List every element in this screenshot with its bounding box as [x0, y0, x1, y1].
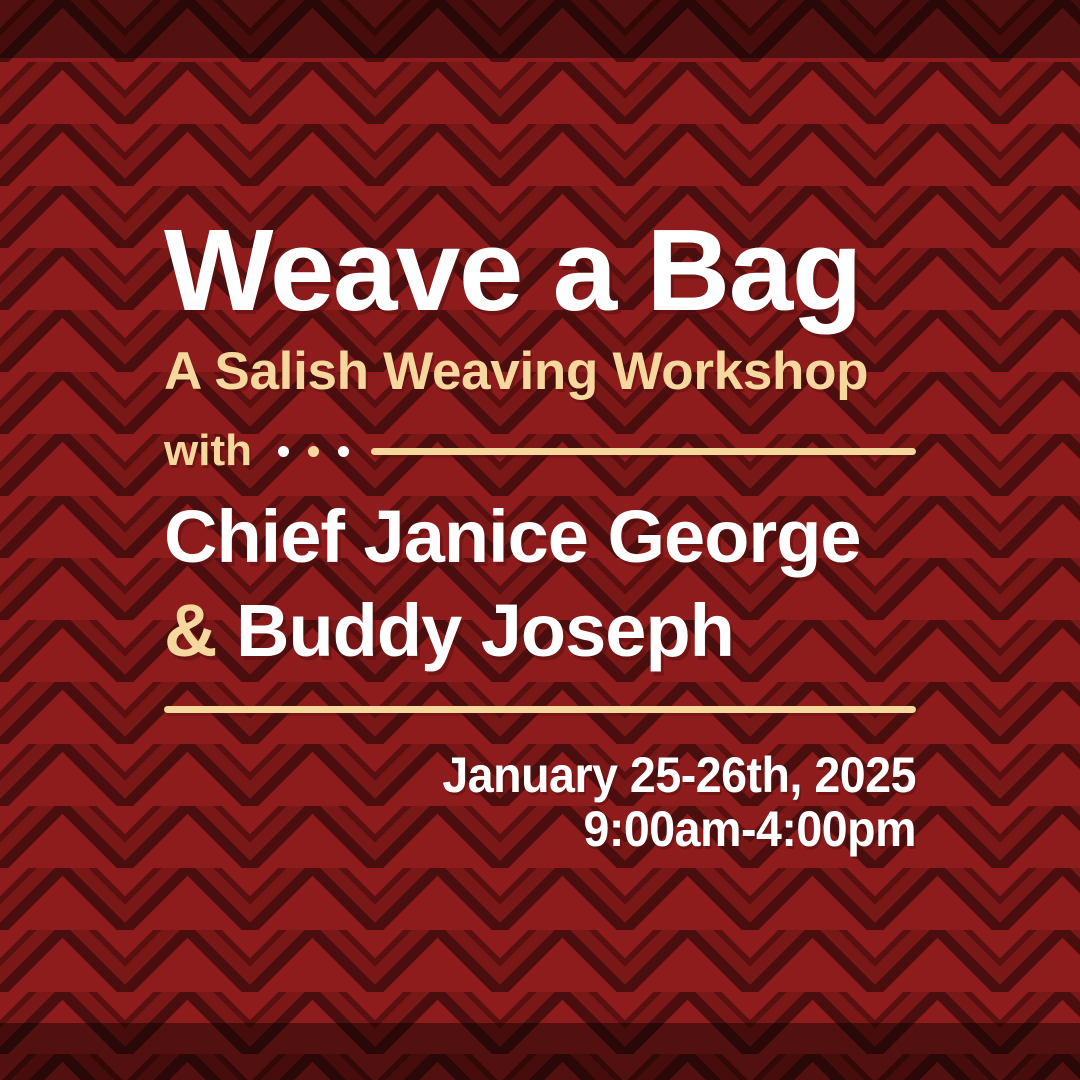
dot-icon	[308, 446, 319, 457]
poster-subtitle: A Salish Weaving Workshop	[164, 345, 916, 398]
dot-icon	[278, 446, 289, 457]
event-poster: Weave a Bag A Salish Weaving Workshop wi…	[0, 0, 1080, 1080]
ampersand-glyph: &	[164, 589, 216, 672]
with-label: with	[164, 429, 252, 473]
presenter-name-text: Chief Janice George	[164, 495, 861, 578]
event-time: 9:00am-4:00pm	[217, 800, 916, 858]
presenter-name-secondary: & Buddy Joseph	[164, 594, 916, 668]
horizontal-rule-bottom	[164, 706, 916, 713]
dot-icon	[338, 446, 349, 457]
horizontal-rule-top	[371, 448, 916, 455]
poster-content: Weave a Bag A Salish Weaving Workshop wi…	[0, 0, 1080, 1080]
presenter-name-primary: Chief Janice George	[164, 500, 916, 574]
dot-separator	[278, 446, 349, 457]
with-divider-row: with	[164, 425, 916, 477]
event-date: January 25-26th, 2025	[217, 746, 916, 804]
presenter-name-text: Buddy Joseph	[236, 589, 734, 672]
page-title: Weave a Bag	[164, 212, 916, 328]
